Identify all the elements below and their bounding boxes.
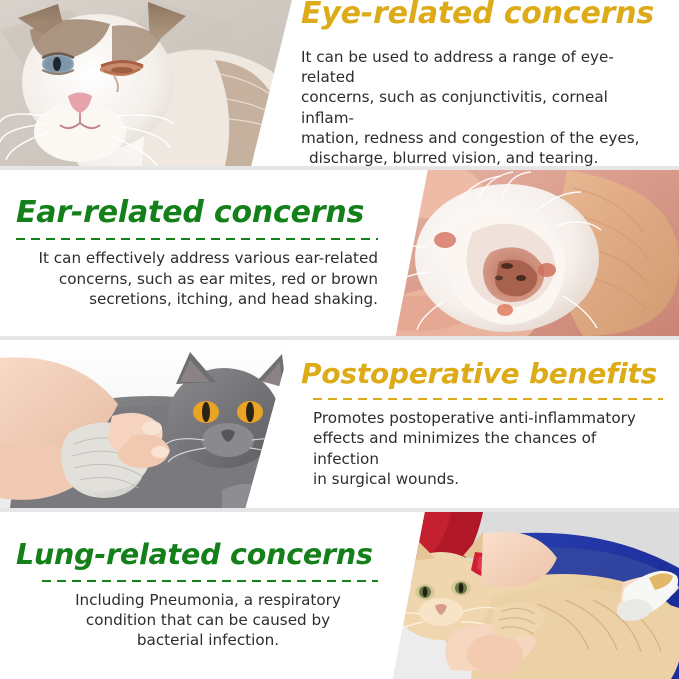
text-eye: Eye-related concerns It can be used to a… [279,0,679,166]
body-line: Promotes postoperative anti-inflammatory [313,408,663,428]
body-line: Including Pneumonia, a respiratory [56,590,360,610]
body-lung: Including Pneumonia, a respiratory condi… [16,590,378,651]
body-line: in surgical wounds. [313,469,663,489]
body-line: concerns, such as conjunctivitis, cornea… [301,87,663,127]
heading-postoperative: Postoperative benefits [301,359,663,389]
image-eye-cat [0,0,292,166]
panel-postoperative: Postoperative benefits Promotes postoper… [0,340,679,508]
body-line: mation, redness and congestion of the ey… [301,128,663,148]
body-line: It can be used to address a range of eye… [301,47,663,87]
body-line: concerns, such as ear mites, red or brow… [16,269,378,289]
body-line: bacterial infection. [56,630,360,650]
text-lung: Lung-related concerns Including Pneumoni… [0,512,400,679]
body-line: discharge, blurred vision, and tearing. [301,148,663,166]
body-line: condition that can be caused by [56,610,360,630]
body-ear: It can effectively address various ear-r… [16,248,378,309]
divider-ear [16,238,378,240]
divider-postoperative [313,398,663,400]
body-line: It can effectively address various ear-r… [16,248,378,268]
image-vet-exam [387,512,679,679]
heading-ear: Ear-related concerns [16,197,378,229]
divider-lung [42,580,378,582]
panel-ear: Ear-related concerns It can effectively … [0,170,679,336]
body-line: effects and minimizes the chances of inf… [313,428,663,468]
infographic-sheet: Eye-related concerns It can be used to a… [0,0,679,679]
body-postoperative: Promotes postoperative anti-inflammatory… [301,408,663,489]
panel-lung: Lung-related concerns Including Pneumoni… [0,512,679,679]
body-eye: It can be used to address a range of eye… [301,47,663,166]
body-line: secretions, itching, and head shaking. [16,289,378,309]
panel-eye: Eye-related concerns It can be used to a… [0,0,679,166]
image-ear-closeup [387,170,679,336]
text-postoperative: Postoperative benefits Promotes postoper… [279,340,679,508]
image-bandaged-paw [0,340,292,508]
heading-lung: Lung-related concerns [16,540,378,571]
heading-eye: Eye-related concerns [301,0,663,30]
text-ear: Ear-related concerns It can effectively … [0,170,400,336]
